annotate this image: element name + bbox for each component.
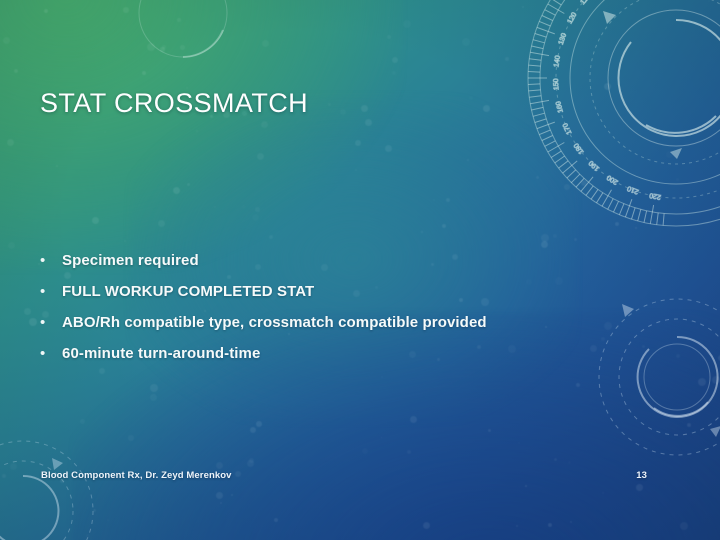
list-item: • ABO/Rh compatible type, crossmatch com…: [40, 314, 660, 345]
list-item: • 60-minute turn-around-time: [40, 345, 660, 376]
bullet-list: • Specimen required • FULL WORKUP COMPLE…: [40, 252, 660, 376]
list-item: • FULL WORKUP COMPLETED STAT: [40, 283, 660, 314]
page-title: STAT CROSSMATCH: [40, 88, 308, 119]
list-item-label: ABO/Rh compatible type, crossmatch compa…: [62, 314, 487, 331]
slide-page-number: 13: [636, 470, 647, 481]
list-item: • Specimen required: [40, 252, 660, 283]
list-item-label: 60-minute turn-around-time: [62, 345, 260, 362]
bullet-marker-icon: •: [40, 315, 62, 330]
list-item-label: Specimen required: [62, 252, 199, 269]
presentation-slide: 2202102001901801701601501401301201101009…: [0, 0, 720, 540]
bullet-marker-icon: •: [40, 346, 62, 361]
footer-credit: Blood Component Rx, Dr. Zeyd Merenkov: [41, 470, 232, 481]
bullet-marker-icon: •: [40, 253, 62, 268]
bullet-marker-icon: •: [40, 284, 62, 299]
list-item-label: FULL WORKUP COMPLETED STAT: [62, 283, 314, 300]
